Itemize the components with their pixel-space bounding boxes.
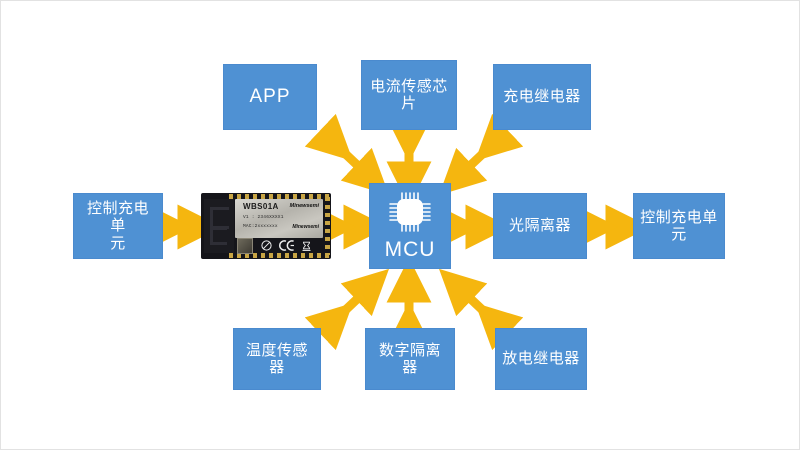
- node-discharge-relay-label: 放电继电器: [496, 350, 586, 367]
- module-pads-right: [325, 197, 330, 255]
- arrow-mcu-temp-sensor: [328, 279, 378, 325]
- node-opto-isolator-label: 光隔离器: [503, 217, 577, 234]
- module-certification-marks: [261, 240, 311, 251]
- arrow-opto-isolator-charge-unit-right: [589, 215, 633, 239]
- node-charge-unit-left[interactable]: 控制充电单 元: [73, 193, 163, 259]
- node-charge-unit-left-label: 控制充电单 元: [74, 200, 162, 252]
- module-shield-can: WBS01A Minewsemi V1 : 2346XXXX1 MAC:2xxx…: [235, 199, 323, 238]
- arrow-module-mcu: [327, 215, 371, 239]
- node-temp-sensor[interactable]: 温度传感器: [233, 328, 321, 390]
- wbs01a-module-photo: WBS01A Minewsemi V1 : 2346XXXX1 MAC:2xxx…: [201, 193, 331, 259]
- diagram-canvas: APP 电流传感芯 片 充电继电器 控制充电单 元: [0, 0, 800, 450]
- module-shielded-ic: [237, 238, 253, 254]
- module-brand: Minewsemi: [290, 203, 319, 209]
- ce-mark-icon: [279, 240, 295, 251]
- arrow-mcu-app: [328, 139, 378, 185]
- arrow-mcu-discharge-relay: [450, 279, 500, 325]
- node-app-label: APP: [243, 86, 296, 108]
- node-temp-sensor-label: 温度传感器: [234, 342, 320, 377]
- node-charge-relay-label: 充电继电器: [497, 88, 587, 105]
- node-mcu[interactable]: MCU: [369, 183, 451, 269]
- arrow-mcu-digital-isolator: [399, 275, 419, 331]
- node-digital-isolator[interactable]: 数字隔离器: [365, 328, 455, 390]
- module-version-line: V1 : 2346XXXX1: [243, 215, 284, 220]
- module-brand-secondary: Minewsemi: [292, 224, 319, 230]
- node-discharge-relay[interactable]: 放电继电器: [495, 328, 587, 390]
- module-mac-line: MAC:2xxxxxxx: [243, 224, 278, 229]
- node-opto-isolator[interactable]: 光隔离器: [493, 193, 587, 259]
- node-current-sensor-label: 电流传感芯 片: [364, 78, 454, 113]
- arrow-mcu-opto-isolator: [451, 215, 493, 239]
- module-antenna-area: [204, 199, 234, 253]
- node-mcu-label: MCU: [379, 238, 442, 262]
- rohs-mark-icon: [261, 240, 272, 251]
- microchip-icon: [387, 190, 433, 234]
- node-app[interactable]: APP: [223, 64, 317, 130]
- node-charge-relay[interactable]: 充电继电器: [493, 64, 591, 130]
- node-charge-unit-right-label: 控制充电单 元: [634, 209, 724, 244]
- node-charge-unit-right[interactable]: 控制充电单 元: [633, 193, 725, 259]
- arrow-mcu-current-sensor: [399, 133, 419, 189]
- node-current-sensor[interactable]: 电流传感芯 片: [361, 60, 457, 130]
- node-digital-isolator-label: 数字隔离器: [366, 342, 454, 377]
- module-part-number: WBS01A: [243, 202, 279, 211]
- arrow-charge-unit-left-module: [163, 215, 205, 239]
- weee-mark-icon: [302, 240, 311, 251]
- arrow-mcu-charge-relay: [450, 139, 500, 185]
